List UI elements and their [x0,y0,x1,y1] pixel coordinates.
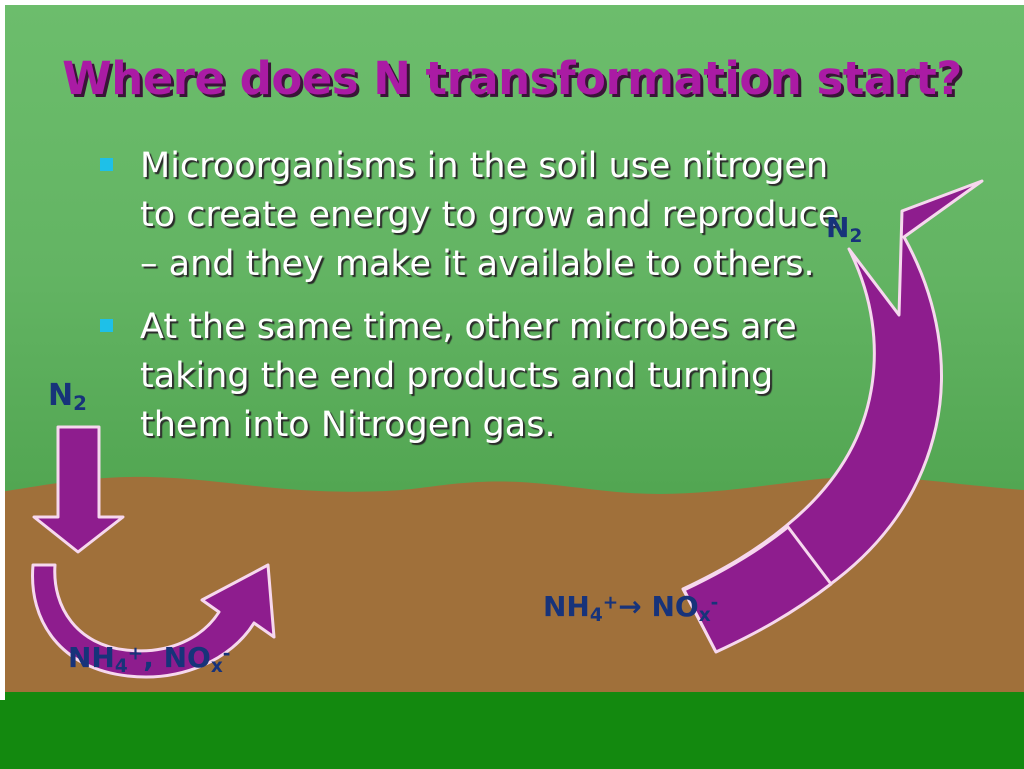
bullet-list: Microorganisms in the soil use nitrogen … [100,142,840,464]
label-n2-left-formula: N [48,378,73,413]
label-n2-left-sub: 2 [73,392,87,415]
label-separator: , [143,641,163,674]
label-n2-right-sub: 2 [849,226,862,247]
list-item: Microorganisms in the soil use nitrogen … [100,142,840,289]
nox-text: NO [164,641,211,674]
bullet-text: At the same time, other microbes are tak… [140,303,840,450]
slide-frame-left [0,0,5,700]
label-n2-right-formula: N [826,211,849,244]
nox-text: NO [651,590,698,623]
bullet-text: Microorganisms in the soil use nitrogen … [140,142,840,289]
label-nitrification-reaction: NH4+→ NOx- [543,590,718,626]
nh4-sup: + [603,592,618,613]
nox-sub: x [699,605,711,626]
label-ammonium-nitrate-soil-left: NH4+, NOx- [68,641,230,677]
nh4-sub: 4 [115,656,128,677]
list-item: At the same time, other microbes are tak… [100,303,840,450]
slide-frame-top [0,0,1024,5]
nh4-sup: + [128,643,143,664]
slide-canvas: Where does N transformation start? Micro… [0,0,1024,769]
page-title: Where does N transformation start? [0,52,1024,105]
nh4-text: NH [68,641,115,674]
square-bullet-icon [100,319,113,332]
nox-sup: - [223,643,231,664]
label-n2-right: N2 [826,211,862,247]
nh4-sub: 4 [590,605,603,626]
reaction-arrow: → [618,590,651,623]
nox-sup: - [711,592,719,613]
grass-strip [0,692,1024,769]
square-bullet-icon [100,158,113,171]
label-n2-left: N2 [48,378,87,415]
nox-sub: x [211,656,223,677]
nh4-text: NH [543,590,590,623]
